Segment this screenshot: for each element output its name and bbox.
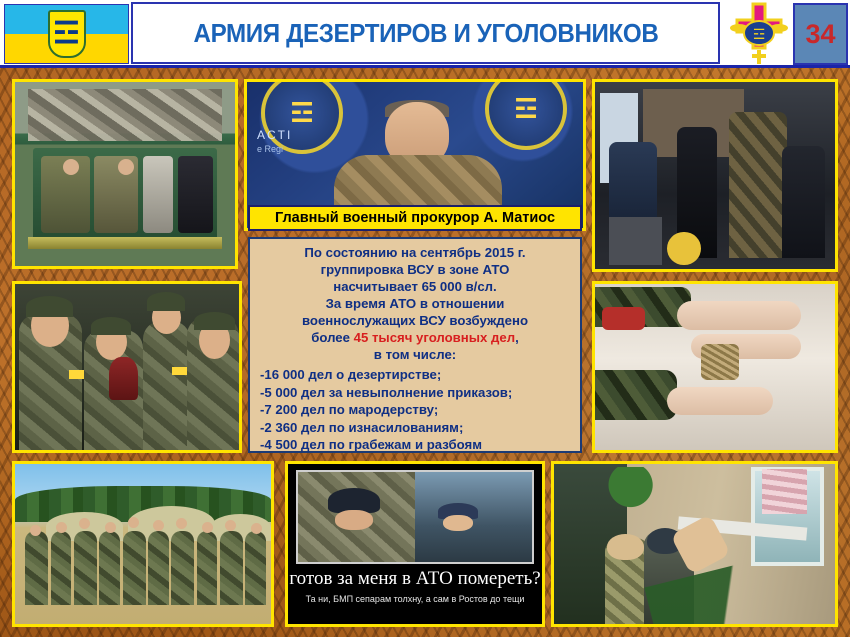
stats-line-7: в том числе: bbox=[256, 346, 574, 363]
prosecutor-caption-text: Главный военный прокурор А. Матиос bbox=[275, 210, 555, 226]
bound-hands-detainee-photo bbox=[592, 281, 838, 453]
meme-image bbox=[296, 470, 534, 564]
stats-line-1: По состоянию на сентябрь 2015 г. bbox=[256, 244, 574, 261]
stats-line-4: За время АТО в отношении bbox=[256, 295, 574, 312]
statistics-text-box: По состоянию на сентябрь 2015 г. группир… bbox=[248, 237, 582, 453]
list-item: -4 500 дел по грабежам и разбоям bbox=[256, 436, 574, 454]
pow-group-at-camp-photo bbox=[12, 461, 274, 627]
prosecutor-caption-bar: Главный военный прокурор А. Матиос bbox=[248, 205, 582, 231]
page-title: АРМИЯ ДЕЗЕРТИРОВ И УГОЛОВНИКОВ bbox=[193, 18, 658, 49]
masked-armed-men-raid-photo bbox=[592, 79, 838, 272]
page-number: 34 bbox=[805, 19, 835, 50]
page-number-box: 34 bbox=[793, 3, 848, 65]
stats-breakdown-list: -16 000 дел о дезертирстве; -5 000 дел з… bbox=[256, 366, 574, 454]
stats-line-6-prefix: более bbox=[311, 330, 353, 345]
meme-caption-line1: готов за меня в АТО помереть? bbox=[288, 568, 542, 590]
men-climbing-window-photo bbox=[551, 461, 838, 627]
meme-caption-line2: Та ни, БМП сепарам толхну, а сам в Росто… bbox=[288, 594, 542, 604]
ato-meme-photo: готов за меня в АТО помереть? Та ни, БМП… bbox=[285, 461, 545, 627]
coat-of-arms-shield: ☲ bbox=[48, 10, 86, 58]
slide-header: ☲ АРМИЯ ДЕЗЕРТИРОВ И УГОЛОВНИКОВ ☲ 34 bbox=[0, 0, 850, 68]
stats-line-5: военнослужащих ВСУ возбуждено bbox=[256, 312, 574, 329]
ukrainian-armed-forces-emblem-icon: ☲ bbox=[727, 2, 791, 66]
soldiers-on-loaded-truck-photo bbox=[12, 79, 238, 269]
list-item: -5 000 дел за невыполнение приказов; bbox=[256, 384, 574, 402]
stats-line-2: группировка ВСУ в зоне АТО bbox=[256, 261, 574, 278]
stats-highlight-total-cases: 45 тысяч уголовных дел bbox=[354, 330, 515, 345]
list-item: -2 360 дел по изнасилованиям; bbox=[256, 419, 574, 437]
ukraine-flag-icon: ☲ bbox=[4, 4, 129, 64]
soldiers-with-bottle-photo bbox=[12, 281, 242, 453]
stats-line-6-suffix: , bbox=[515, 330, 519, 345]
list-item: -7 200 дел по мародерству; bbox=[256, 401, 574, 419]
svg-text:☲: ☲ bbox=[753, 27, 766, 43]
stats-line-3: насчитывает 65 000 в/сл. bbox=[256, 278, 574, 295]
list-item: -16 000 дел о дезертирстве; bbox=[256, 366, 574, 384]
slide-root: ☲ АРМИЯ ДЕЗЕРТИРОВ И УГОЛОВНИКОВ ☲ 34 bbox=[0, 0, 850, 637]
trident-icon: ☲ bbox=[53, 19, 80, 49]
title-bar: АРМИЯ ДЕЗЕРТИРОВ И УГОЛОВНИКОВ bbox=[131, 2, 720, 64]
stats-line-6: более 45 тысяч уголовных дел, bbox=[256, 329, 574, 346]
